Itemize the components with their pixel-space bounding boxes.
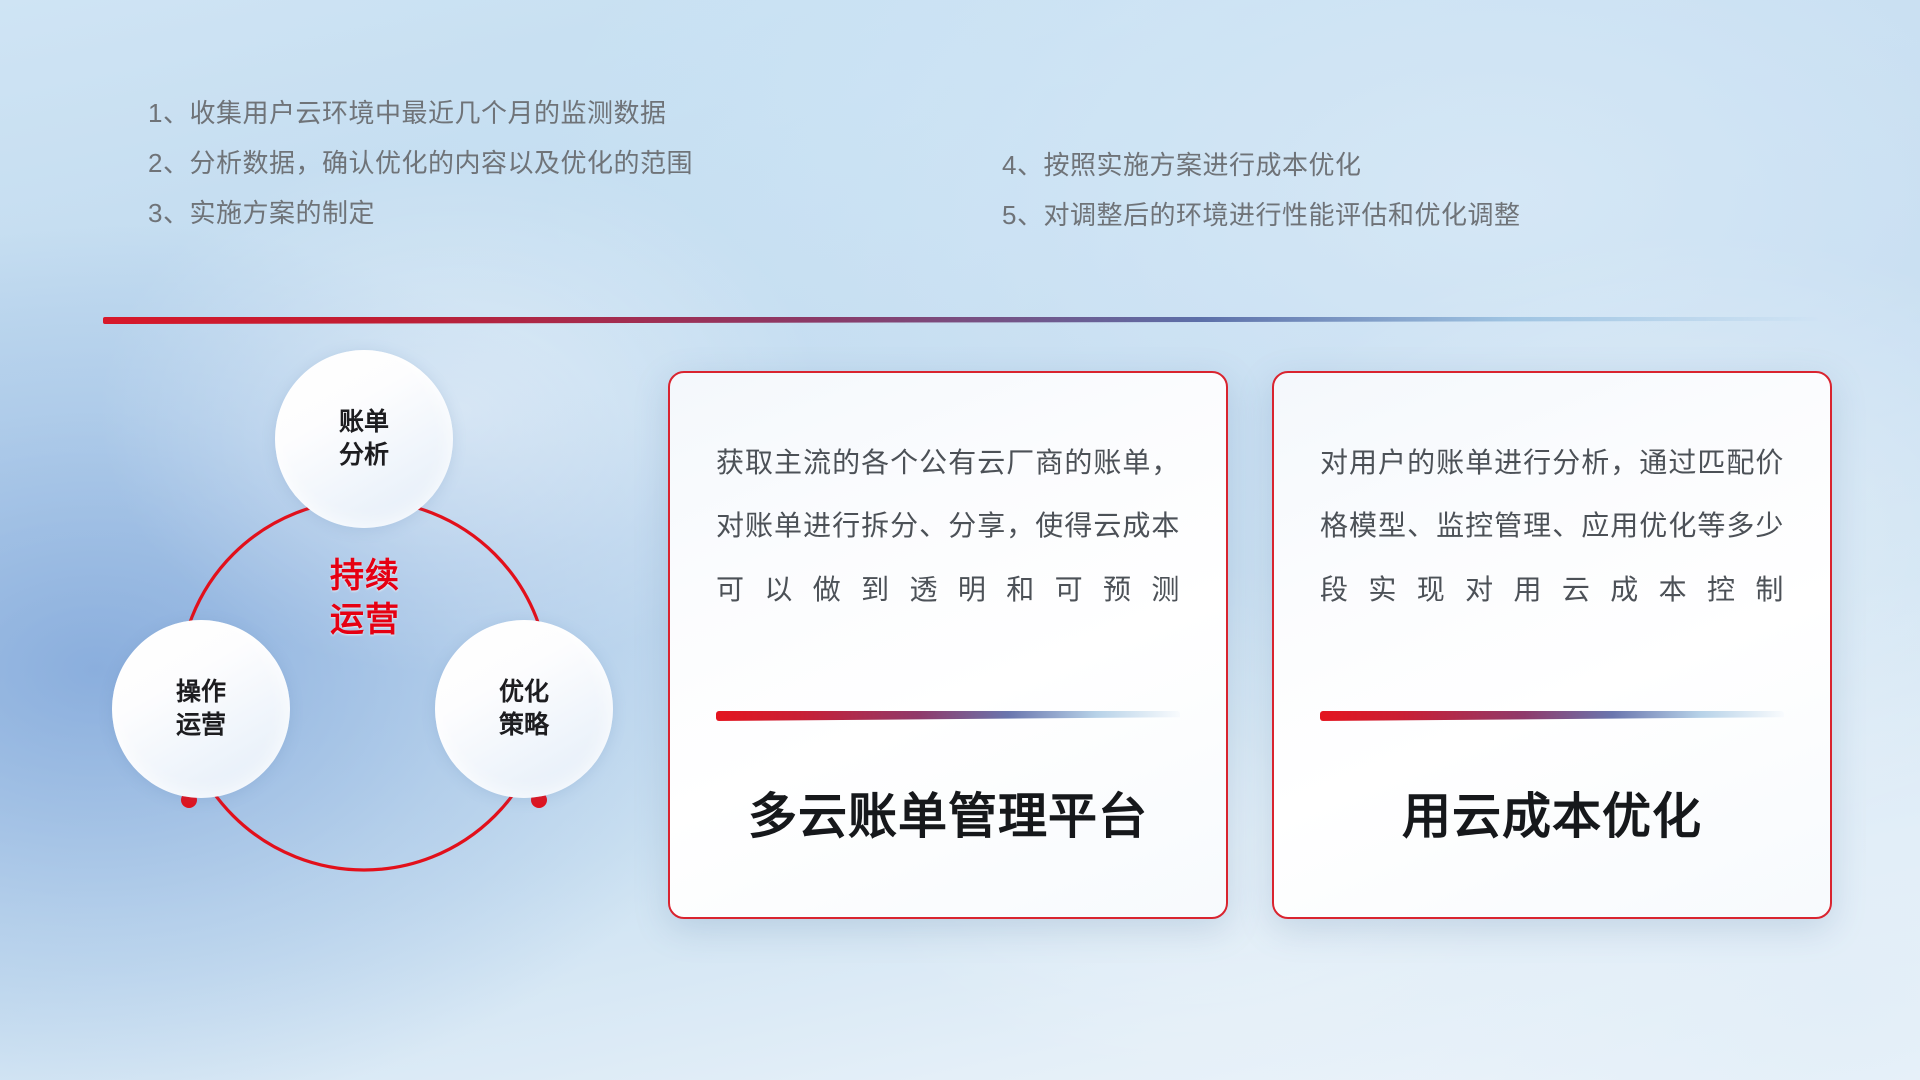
step-item-4: 4、按照实施方案进行成本优化 bbox=[1002, 152, 1520, 178]
bubble-right-line-1: 优化 bbox=[499, 676, 549, 709]
diagram-center-label: 持续 运营 bbox=[275, 555, 455, 642]
bubble-left-line-2: 运营 bbox=[176, 709, 226, 742]
bubble-operations[interactable]: 操作 运营 bbox=[112, 620, 290, 798]
feature-card-cost-optimization[interactable]: 对用户的账单进行分析，通过匹配价格模型、监控管理、应用优化等多少段实现对用云成本… bbox=[1272, 371, 1832, 919]
steps-list-left: 1、收集用户云环境中最近几个月的监测数据 2、分析数据，确认优化的内容以及优化的… bbox=[148, 100, 693, 250]
feature-card-multicloud-billing[interactable]: 获取主流的各个公有云厂商的账单，对账单进行拆分、分享，使得云成本可以做到透明和可… bbox=[668, 371, 1228, 919]
card-1-rule bbox=[716, 711, 1180, 721]
steps-list-right: 4、按照实施方案进行成本优化 5、对调整后的环境进行性能评估和优化调整 bbox=[1002, 152, 1520, 252]
bubble-bill-analysis[interactable]: 账单 分析 bbox=[275, 350, 453, 528]
step-item-1: 1、收集用户云环境中最近几个月的监测数据 bbox=[148, 100, 693, 126]
card-2-rule bbox=[1320, 711, 1784, 721]
bubble-left-line-1: 操作 bbox=[176, 676, 226, 709]
center-label-line-1: 持续 bbox=[275, 555, 455, 599]
continuous-operation-diagram: 账单 分析 操作 运营 优化 策略 持续 运营 bbox=[90, 350, 650, 950]
bubble-top-line-2: 分析 bbox=[339, 439, 389, 472]
card-1-title: 多云账单管理平台 bbox=[716, 777, 1180, 848]
card-1-body: 获取主流的各个公有云厂商的账单，对账单进行拆分、分享，使得云成本可以做到透明和可… bbox=[716, 431, 1180, 707]
step-item-3: 3、实施方案的制定 bbox=[148, 200, 693, 226]
bubble-right-line-2: 策略 bbox=[499, 709, 549, 742]
card-2-title: 用云成本优化 bbox=[1320, 777, 1784, 848]
center-label-line-2: 运营 bbox=[275, 599, 455, 643]
section-divider bbox=[103, 317, 1818, 324]
step-item-5: 5、对调整后的环境进行性能评估和优化调整 bbox=[1002, 202, 1520, 228]
bubble-top-line-1: 账单 bbox=[339, 406, 389, 439]
bubble-optimization-strategy[interactable]: 优化 策略 bbox=[435, 620, 613, 798]
slide-canvas: 1、收集用户云环境中最近几个月的监测数据 2、分析数据，确认优化的内容以及优化的… bbox=[0, 0, 1920, 1080]
step-item-2: 2、分析数据，确认优化的内容以及优化的范围 bbox=[148, 150, 693, 176]
card-2-body: 对用户的账单进行分析，通过匹配价格模型、监控管理、应用优化等多少段实现对用云成本… bbox=[1320, 431, 1784, 707]
